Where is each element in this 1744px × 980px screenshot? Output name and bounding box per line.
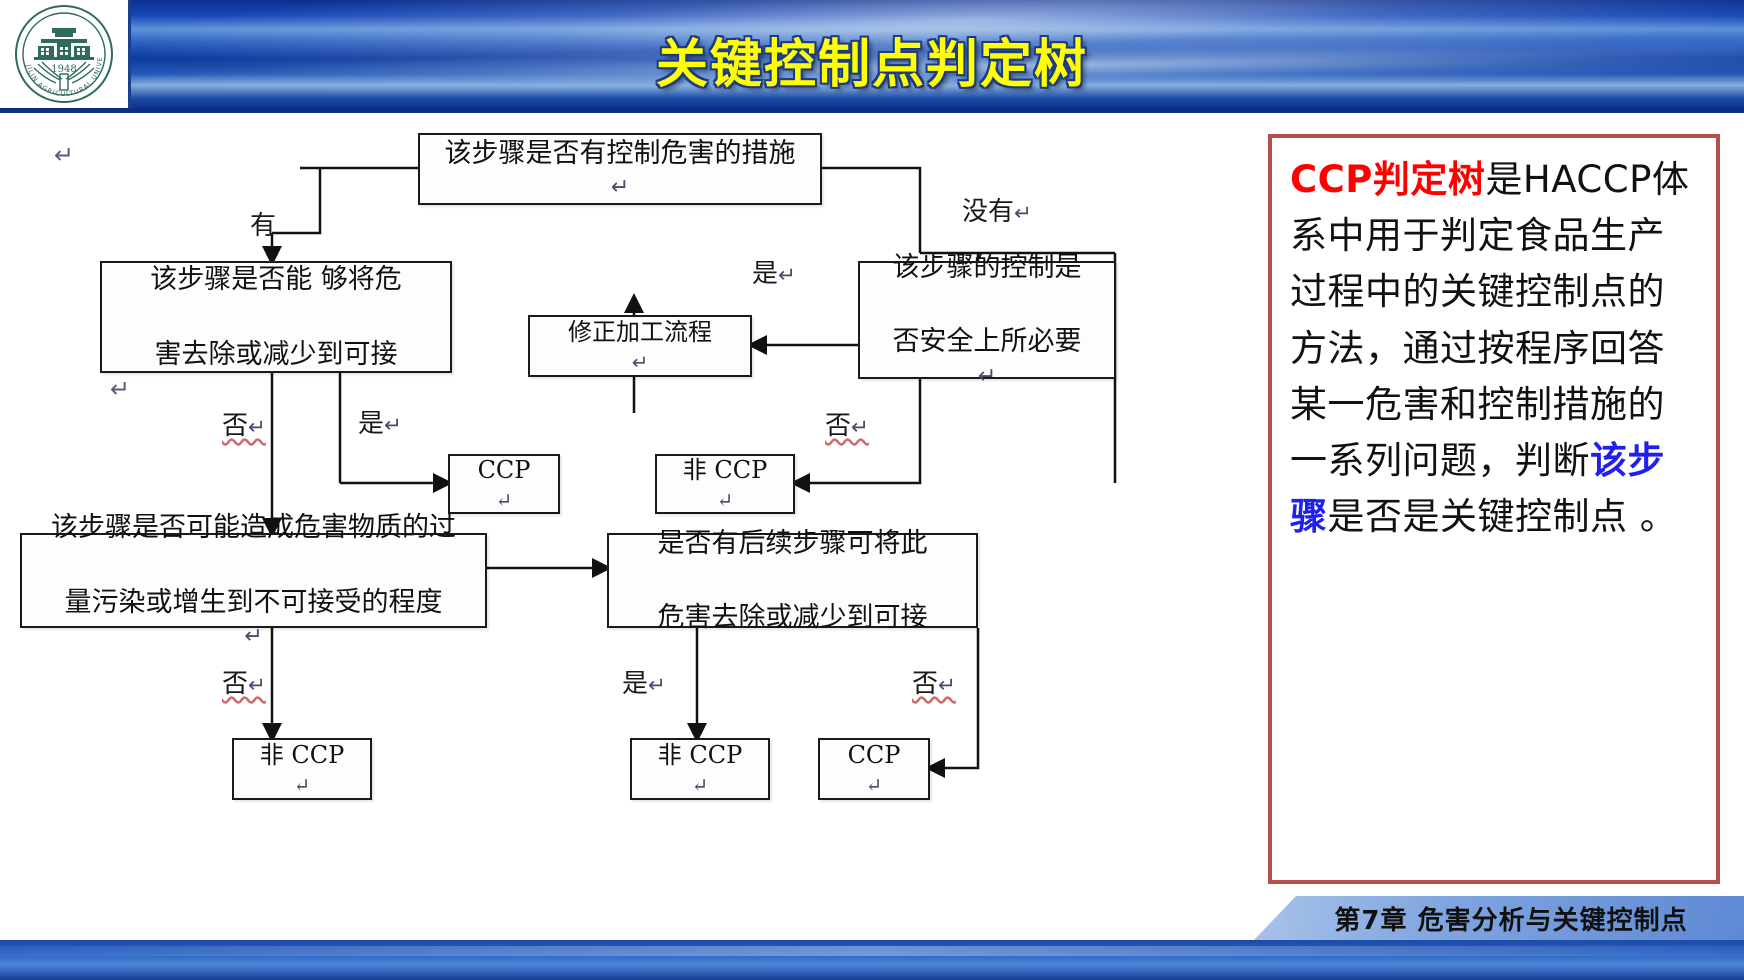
flow-box-non-ccp-3[interactable]: 非 CCP↵ [630,738,770,800]
flow-box-ccp-2[interactable]: CCP↵ [818,738,930,800]
university-logo: 1948 JILIN AGRICULTURAL UNIVERSITY [0,0,131,108]
svg-text:1948: 1948 [51,64,76,75]
stray-paragraph-mark-1: ↵ [54,141,74,170]
edge-label-none: 没有↵ [962,191,1032,228]
footer-bar [0,940,1744,980]
flow-box-modify-process[interactable]: 修正加工流程↵ [528,315,752,377]
explanation-body: 是HACCP体系中用于判定食品生产过程中的关键控制点的方法，通过按程序回答某一危… [1290,158,1689,482]
edge-label-no-right: 否↵ [825,405,869,442]
stray-paragraph-mark-2: ↵ [110,375,130,404]
flow-box-ccp-1[interactable]: CCP↵ [448,454,560,514]
flow-box-non-ccp-2[interactable]: 非 CCP↵ [232,738,372,800]
flow-box-non-ccp-1[interactable]: 非 CCP↵ [655,454,795,514]
ccp-explanation-panel: CCP判定树是HACCP体系中用于判定食品生产过程中的关键控制点的方法，通过按程… [1268,134,1720,884]
edge-label-no-left: 否↵ [222,405,266,442]
flow-box-q3[interactable]: 该步骤的控制是 否安全上所必要↵ [858,261,1116,379]
flow-box-q5[interactable]: 是否有后续步骤可将此 危害去除或减少到可接 [607,533,978,628]
slide-header-banner [0,0,1744,112]
chapter-footer-tab: 第7章 危害分析与关键控制点 [1254,896,1744,940]
edge-label-no-bottom-left: 否↵ [222,663,266,700]
explanation-highlight-red: CCP判定树 [1290,158,1485,201]
edge-label-has: 有 [250,205,276,242]
flow-box-q1[interactable]: 该步骤是否有控制危害的措施↵ [418,133,822,205]
flow-box-q2[interactable]: 该步骤是否能 够将危 害去除或减少到可接 [100,261,452,373]
edge-label-yes-left: 是↵ [358,403,402,440]
edge-label-yes-middle: 是↵ [752,253,796,290]
jilin-agricultural-university-seal-icon: 1948 JILIN AGRICULTURAL UNIVERSITY [8,2,120,106]
flow-box-q4[interactable]: 该步骤是否可能造成危害物质的过 量污染或增生到不可接受的程度↵ [20,533,487,628]
ccp-decision-tree-diagram: 该步骤是否有控制危害的措施↵ 该步骤是否能 够将危 害去除或减少到可接 该步骤的… [0,113,1180,873]
banner-sheen-secondary [140,30,1744,105]
explanation-text: CCP判定树是HACCP体系中用于判定食品生产过程中的关键控制点的方法，通过按程… [1290,152,1702,546]
banner-sheen [119,0,1744,104]
edge-label-no-bottom-right: 否↵ [912,663,956,700]
edge-label-yes-bottom-mid: 是↵ [622,663,666,700]
chapter-label: 第7章 危害分析与关键控制点 [1310,900,1687,937]
explanation-tail: 是否是关键控制点 。 [1328,495,1678,538]
